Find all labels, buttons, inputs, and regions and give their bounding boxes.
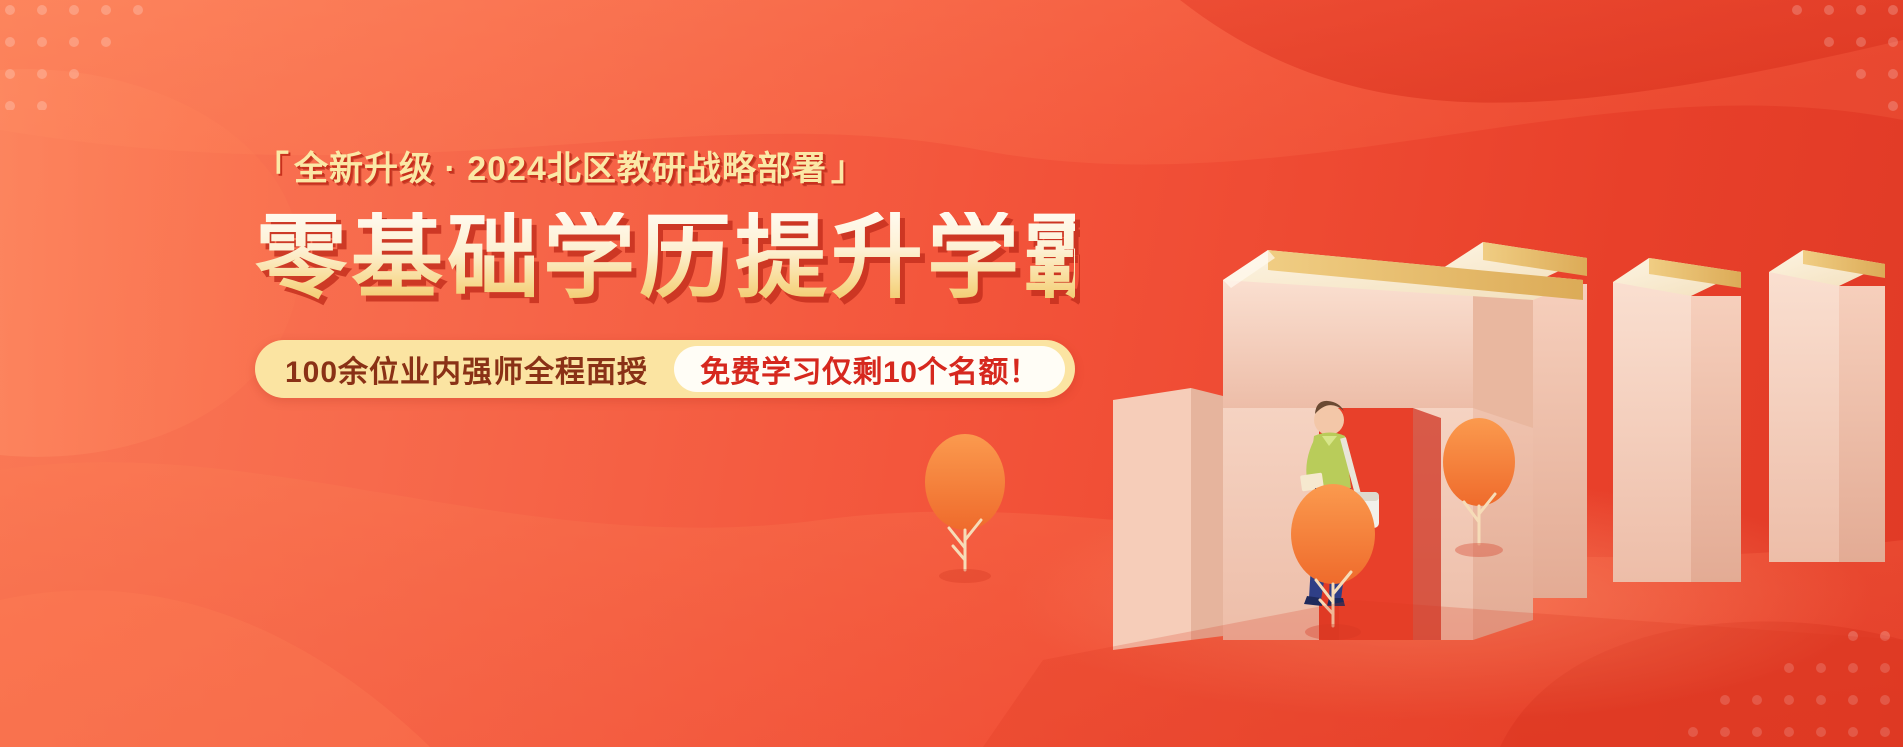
book-arch-4 <box>1769 250 1885 562</box>
book-arch-3 <box>1613 258 1741 582</box>
page-title: 零基础学历提升学霸班 <box>255 212 1075 304</box>
dot-grid-bottom-right <box>1673 602 1903 747</box>
tree-center <box>1291 484 1375 640</box>
highlight-badge[interactable]: 100余位业内强师全程面授 免费学习仅剩10个名额！ <box>255 340 1075 398</box>
copy-block: 「 全新升级 · 2024北区教研战略部署 」 零基础学历提升学霸班 100余位… <box>255 152 1075 398</box>
bracket-open: 「 <box>255 152 290 186</box>
book-arch-2 <box>1443 242 1587 598</box>
student-figure <box>1300 401 1379 606</box>
kicker-text: 全新升级 · 2024北区教研战略部署 <box>294 152 827 186</box>
badge-left-label: 100余位业内强师全程面授 <box>285 347 674 391</box>
book-arch-1 <box>1223 250 1583 640</box>
wall-slab <box>1113 388 1223 650</box>
tree-right <box>1443 418 1515 557</box>
promo-banner: 「 全新升级 · 2024北区教研战略部署 」 零基础学历提升学霸班 100余位… <box>0 0 1903 747</box>
ground-glow <box>1013 480 1873 720</box>
ground-shadow <box>983 600 1903 747</box>
tree-left <box>925 434 1005 583</box>
bracket-close: 」 <box>831 152 866 186</box>
badge-right-label[interactable]: 免费学习仅剩10个名额！ <box>674 346 1065 392</box>
dot-grid-top-left <box>0 0 200 115</box>
kicker-line: 「 全新升级 · 2024北区教研战略部署 」 <box>255 152 1075 186</box>
dot-grid-top-right <box>1713 0 1903 135</box>
